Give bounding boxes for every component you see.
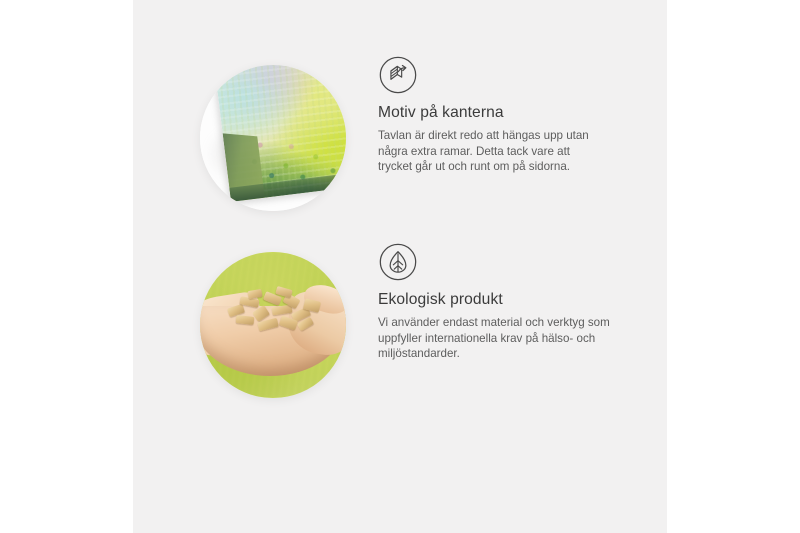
canvas-print-corner-photo [200,65,346,211]
feature-text-edges: Motiv på kanterna Tavlan är direkt redo … [378,55,663,175]
feature-body-line: miljöstandarder. [378,346,663,362]
feature-body-line: trycket går ut och runt om på sidorna. [378,159,663,175]
hands-with-wood-chips-photo [200,252,346,398]
feature-block-eco: Ekologisk produkt Vi använder endast mat… [133,242,667,442]
leaf-icon [378,242,418,282]
feature-body-edges: Tavlan är direkt redo att hängas upp uta… [378,128,663,175]
canvas-wrap-icon [378,55,418,95]
content-panel: Motiv på kanterna Tavlan är direkt redo … [133,0,667,533]
product-feature-infographic: Motiv på kanterna Tavlan är direkt redo … [0,0,800,533]
canvas-photo-scene [200,65,346,211]
canvas-block [215,65,346,202]
eco-photo-scene [200,252,346,398]
feature-body-eco: Vi använder endast material och verktyg … [378,315,663,362]
feature-body-line: uppfyller internationella krav på hälso-… [378,331,663,347]
feature-body-line: några extra ramar. Detta tack vare att [378,144,663,160]
wood-chips-pile [226,288,326,336]
feature-title-eco: Ekologisk produkt [378,291,663,309]
feature-block-edges: Motiv på kanterna Tavlan är direkt redo … [133,55,667,255]
feature-body-line: Vi använder endast material och verktyg … [378,315,663,331]
feature-text-eco: Ekologisk produkt Vi använder endast mat… [378,242,663,362]
feature-body-line: Tavlan är direkt redo att hängas upp uta… [378,128,663,144]
feature-title-edges: Motiv på kanterna [378,104,663,122]
